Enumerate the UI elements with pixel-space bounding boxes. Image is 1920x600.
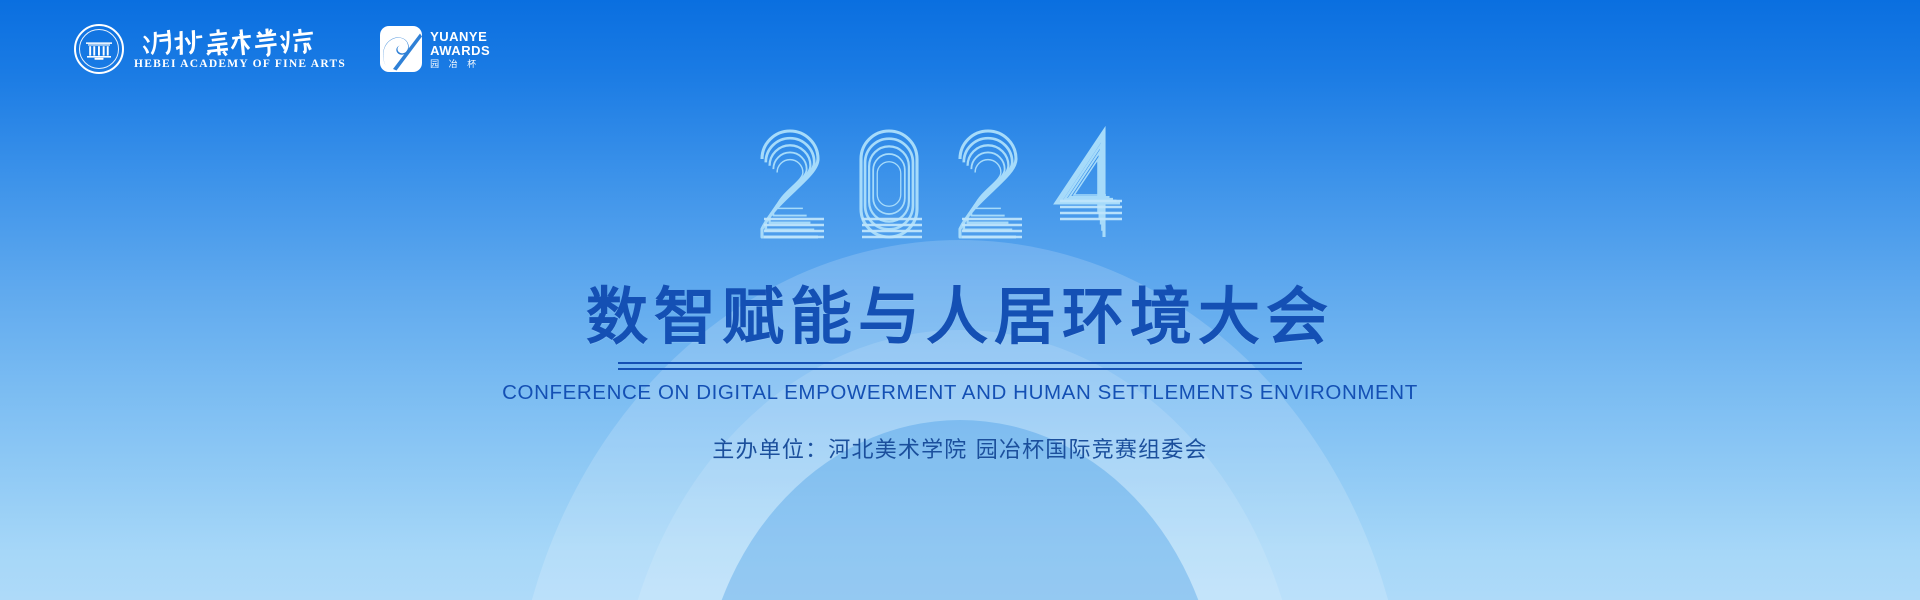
yuanye-chinese-name: 园 冶 杯: [430, 60, 490, 69]
title-divider-rules: [618, 362, 1302, 370]
hebei-academy-logo[interactable]: HEBEI ACADEMY OF FINE ARTS: [74, 24, 346, 74]
logo-bar: HEBEI ACADEMY OF FINE ARTS YUANYE AWARDS…: [74, 24, 490, 74]
divider-rule-top: [618, 362, 1302, 364]
conference-title-english: CONFERENCE ON DIGITAL EMPOWERMENT AND HU…: [0, 381, 1920, 405]
hebei-academy-english-name: HEBEI ACADEMY OF FINE ARTS: [134, 59, 346, 71]
year-2024-graphic: 2024: [750, 115, 1170, 250]
yuanye-line1: YUANYE: [430, 30, 490, 43]
hebei-chinese-calligraphy-icon: [142, 27, 339, 57]
conference-banner: HEBEI ACADEMY OF FINE ARTS YUANYE AWARDS…: [0, 0, 1920, 600]
yuanye-awards-logo[interactable]: YUANYE AWARDS 园 冶 杯: [380, 26, 490, 72]
divider-rule-bottom: [618, 368, 1302, 370]
organizer-line: 主办单位：河北美术学院 园冶杯国际竞赛组委会: [0, 432, 1920, 464]
yuanye-mark-glyph: [380, 26, 422, 72]
hebei-academy-seal-icon: [74, 24, 124, 74]
yuanye-line2: AWARDS: [430, 44, 490, 57]
hebei-wordmark: HEBEI ACADEMY OF FINE ARTS: [134, 27, 346, 71]
yuanye-leaf-mark-icon: [380, 26, 422, 72]
title-block: 数智赋能与人居环境大会 CONFERENCE ON DIGITAL EMPOWE…: [0, 282, 1920, 405]
year-2024-lined-numerals: 2024: [750, 115, 1170, 250]
conference-title-chinese: 数智赋能与人居环境大会: [0, 282, 1920, 351]
yuanye-wordmark: YUANYE AWARDS 园 冶 杯: [430, 30, 490, 69]
gate-building-icon: [85, 40, 113, 60]
